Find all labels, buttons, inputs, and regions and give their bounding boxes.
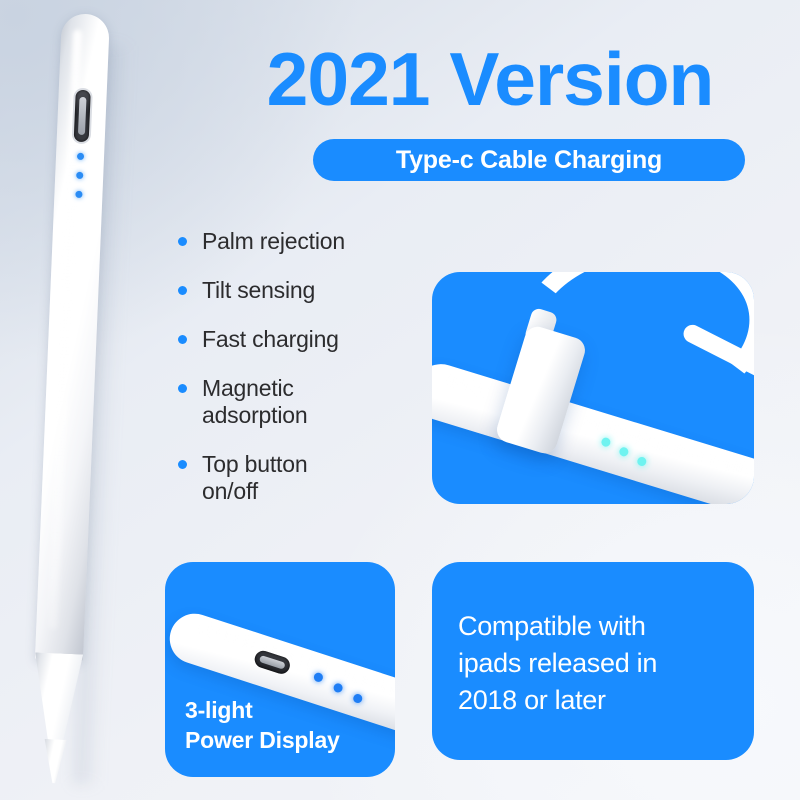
- compat-line-2: ipads released in: [458, 645, 657, 682]
- led-indicator-3-icon: [75, 191, 82, 198]
- power-display-caption: 3-light Power Display: [185, 695, 340, 755]
- feature-label-line2: on/off: [202, 478, 408, 505]
- charging-type-badge: Type-c Cable Charging: [313, 139, 745, 181]
- feature-label: Magnetic: [202, 375, 408, 402]
- feature-item: Magnetic adsorption: [178, 375, 408, 429]
- feature-item: Tilt sensing: [178, 277, 408, 304]
- bullet-dot-icon: [178, 460, 187, 469]
- led-indicator-2-icon: [618, 446, 629, 457]
- bullet-dot-icon: [178, 335, 187, 344]
- feature-item: Top button on/off: [178, 451, 408, 505]
- caption-line-2: Power Display: [185, 725, 340, 755]
- led-indicator-2-icon: [76, 172, 83, 179]
- type-c-charging-photo-panel: [432, 272, 754, 504]
- bullet-dot-icon: [178, 384, 187, 393]
- power-display-panel: 3-light Power Display: [165, 562, 395, 777]
- feature-item: Fast charging: [178, 326, 408, 353]
- bullet-dot-icon: [178, 286, 187, 295]
- stylus-tip: [43, 739, 67, 784]
- led-indicator-2-icon: [332, 682, 343, 693]
- bullet-dot-icon: [178, 237, 187, 246]
- caption-line-1: 3-light: [185, 695, 340, 725]
- compatibility-text: Compatible with ipads released in 2018 o…: [458, 608, 657, 719]
- feature-label: Palm rejection: [202, 228, 408, 255]
- compat-line-3: 2018 or later: [458, 682, 657, 719]
- led-indicator-1-icon: [313, 672, 324, 683]
- feature-list: Palm rejection Tilt sensing Fast chargin…: [178, 228, 408, 527]
- led-indicator-3-icon: [636, 456, 647, 467]
- feature-label: Top button: [202, 451, 408, 478]
- compat-line-1: Compatible with: [458, 608, 657, 645]
- led-indicator-1-icon: [600, 437, 611, 448]
- feature-item: Palm rejection: [178, 228, 408, 255]
- product-poster: 2021 Version Type-c Cable Charging Palm …: [0, 0, 800, 800]
- compatibility-panel: Compatible with ipads released in 2018 o…: [432, 562, 754, 760]
- feature-label-line2: adsorption: [202, 402, 408, 429]
- feature-label: Fast charging: [202, 326, 408, 353]
- usb-type-c-port-icon: [74, 90, 91, 143]
- stylus-pen-main-illustration: [30, 13, 110, 784]
- page-title: 2021 Version: [200, 42, 780, 117]
- led-indicator-1-icon: [77, 153, 84, 160]
- feature-label: Tilt sensing: [202, 277, 408, 304]
- led-indicator-3-icon: [352, 693, 363, 704]
